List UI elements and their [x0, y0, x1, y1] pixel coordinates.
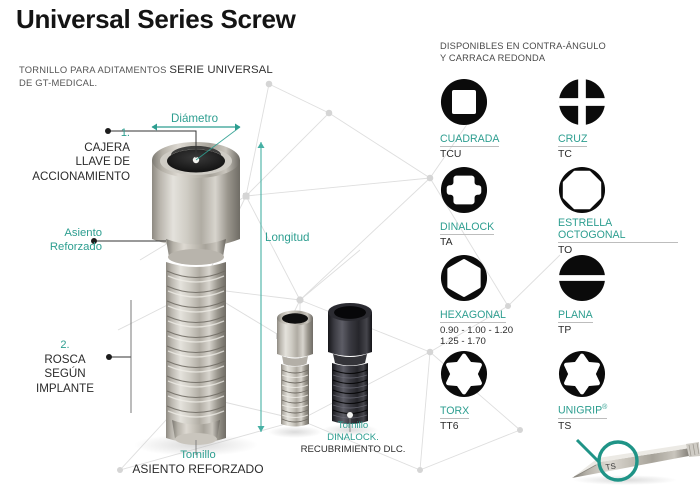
driver-tool-illustration: TS	[572, 440, 700, 485]
drive-type-torx[interactable]: TORXTT6	[440, 350, 560, 434]
drive-name: UNIGRIP®	[558, 402, 607, 419]
drive-type-unigrip[interactable]: UNIGRIP®TS	[558, 350, 678, 434]
length-label: Longitud	[265, 231, 309, 244]
callout-cajera-line3: ACCIONAMIENTO	[32, 170, 130, 183]
caption-main-line2: ASIENTO REFORZADO	[132, 462, 263, 476]
callout-rosca-line1: ROSCA	[44, 353, 85, 366]
registered-mark: ®	[602, 404, 607, 411]
drive-type-cruz[interactable]: CRUZTC	[558, 78, 678, 162]
callout-rosca: 2. ROSCA SEGÚN IMPLANTE	[12, 338, 118, 396]
drive-name: CUADRADA	[440, 133, 499, 147]
drive-type-plana[interactable]: PLANATP	[558, 254, 678, 338]
drive-type-dinalock[interactable]: DINALOCKTA	[440, 166, 560, 250]
drive-type-estrella-octogonal[interactable]: ESTRELLA OCTOGONALTO	[558, 166, 678, 258]
drives-heading-line1: DISPONIBLES EN CONTRA-ÁNGULO	[440, 41, 606, 51]
callout-asiento-line1: Asiento	[64, 227, 102, 239]
diameter-label: Diámetro	[171, 112, 218, 125]
torx-drive-icon	[440, 350, 488, 398]
hexagon-drive-icon	[440, 254, 488, 302]
drive-code: TCU	[440, 149, 560, 162]
drive-code: TT6	[440, 421, 560, 434]
drive-code: TP	[558, 325, 678, 338]
callout-cajera-line2: LLAVE DE	[75, 155, 130, 168]
drive-name: DINALOCK	[440, 221, 494, 235]
drive-name: PLANA	[558, 309, 593, 323]
caption-dlc-line2: DINALOCK.	[327, 432, 379, 443]
drives-panel-heading: DISPONIBLES EN CONTRA-ÁNGULO Y CARRACA R…	[440, 40, 606, 64]
callout-asiento-reforzado: Asiento Reforzado	[18, 226, 102, 254]
caption-dlc-line3: RECUBRIMIENTO DLC.	[301, 444, 406, 455]
drive-name: HEXAGONAL	[440, 309, 506, 323]
drive-type-cuadrada[interactable]: CUADRADATCU	[440, 78, 560, 162]
octagon-drive-icon	[558, 166, 606, 214]
drive-code: TC	[558, 149, 678, 162]
flat-drive-icon	[558, 254, 606, 302]
caption-main-line1: Tornillo	[180, 449, 215, 461]
square-drive-icon	[440, 78, 488, 126]
drive-name: CRUZ	[558, 133, 587, 147]
drive-name: TORX	[440, 405, 469, 419]
svg-text:TS: TS	[605, 461, 617, 471]
callout-rosca-number: 2.	[60, 339, 69, 351]
drive-code: TS	[558, 421, 678, 434]
caption-dlc-screw: Tornillo DINALOCK. RECUBRIMIENTO DLC.	[293, 420, 413, 456]
callout-cajera: 1. CAJERA LLAVE DE ACCIONAMIENTO	[8, 126, 130, 184]
callout-rosca-line3: IMPLANTE	[36, 382, 94, 395]
unigrip-drive-icon	[558, 350, 606, 398]
cross-drive-icon	[558, 78, 606, 126]
callout-cajera-number: 1.	[121, 127, 130, 139]
infographic-canvas: Universal Series Screw TORNILLO PARA ADI…	[0, 0, 700, 500]
drive-name: ESTRELLA OCTOGONAL	[558, 217, 678, 243]
caption-main-screw: Tornillo ASIENTO REFORZADO	[118, 448, 278, 477]
drive-code: TA	[440, 237, 560, 250]
callout-asiento-line2: Reforzado	[50, 241, 102, 253]
caption-dlc-line1: Tornillo	[338, 420, 368, 431]
dinalock-drive-icon	[440, 166, 488, 214]
callout-cajera-line1: CAJERA	[84, 141, 130, 154]
callout-rosca-line2: SEGÚN	[44, 367, 85, 380]
drives-heading-line2: Y CARRACA REDONDA	[440, 53, 545, 63]
length-dimension-arrow	[258, 142, 265, 432]
drive-code: 0.90 - 1.00 - 1.201.25 - 1.70	[440, 325, 560, 348]
drive-type-hexagonal[interactable]: HEXAGONAL0.90 - 1.00 - 1.201.25 - 1.70	[440, 254, 560, 348]
